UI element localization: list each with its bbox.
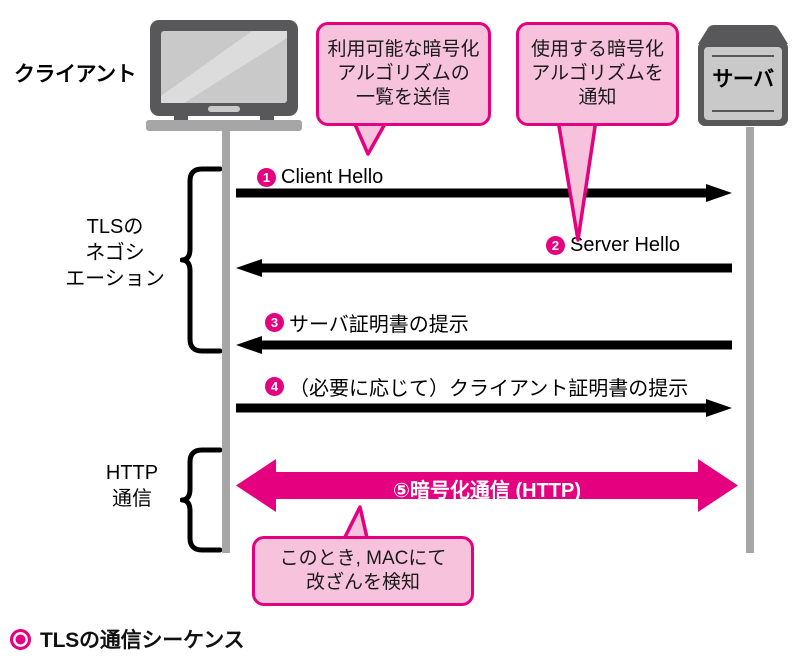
client-label: クライアント — [14, 58, 136, 88]
message-number-3: 3 — [265, 313, 284, 332]
tls-sequence-diagram: クライアント サーバ TLSの ネゴシ エーション HTTP 通信 1 Clie… — [0, 0, 809, 663]
callout-2-text: 使用する暗号化 アルゴリズムを 通知 — [525, 38, 670, 110]
message-label-4: 4 （必要に応じて）クライアント証明書の提示 — [265, 372, 688, 401]
message-number-4: 4 — [265, 377, 284, 396]
callout-3: このとき, MACにて 改ざんを検知 — [252, 536, 474, 606]
encrypted-channel-label: ⑤暗号化通信 (HTTP) — [236, 474, 738, 503]
server-lifeline — [746, 127, 754, 553]
tls-group-bracket — [180, 165, 222, 355]
encrypted-channel-label-wrap: ⑤暗号化通信 (HTTP) — [236, 474, 738, 503]
message-arrow-1 — [236, 184, 732, 202]
laptop-icon — [144, 18, 314, 134]
client-lifeline — [222, 123, 230, 553]
http-group-bracket — [180, 446, 222, 554]
callout-1-text: 利用可能な暗号化 アルゴリズムの 一覧を送信 — [321, 38, 485, 110]
message-arrow-4 — [236, 399, 732, 417]
callout-1: 利用可能な暗号化 アルゴリズムの 一覧を送信 — [316, 22, 491, 126]
message-text-3: サーバ証明書の提示 — [289, 308, 469, 337]
server-label: サーバ — [694, 63, 792, 93]
message-arrow-2 — [236, 259, 732, 277]
caption-text: TLSの通信シーケンス — [40, 624, 244, 654]
bullet-icon — [10, 629, 31, 650]
callout-2: 使用する暗号化 アルゴリズムを 通知 — [516, 22, 679, 126]
caption: TLSの通信シーケンス — [10, 624, 244, 654]
tls-group-label: TLSの ネゴシ エーション — [56, 214, 174, 292]
callout-2-tail — [556, 118, 616, 243]
callout-3-text: このとき, MACにて 改ざんを検知 — [274, 547, 453, 595]
message-label-3: 3 サーバ証明書の提示 — [265, 308, 469, 337]
message-text-4: （必要に応じて）クライアント証明書の提示 — [289, 372, 688, 401]
http-group-label: HTTP 通信 — [86, 460, 178, 512]
message-arrow-3 — [236, 336, 732, 354]
